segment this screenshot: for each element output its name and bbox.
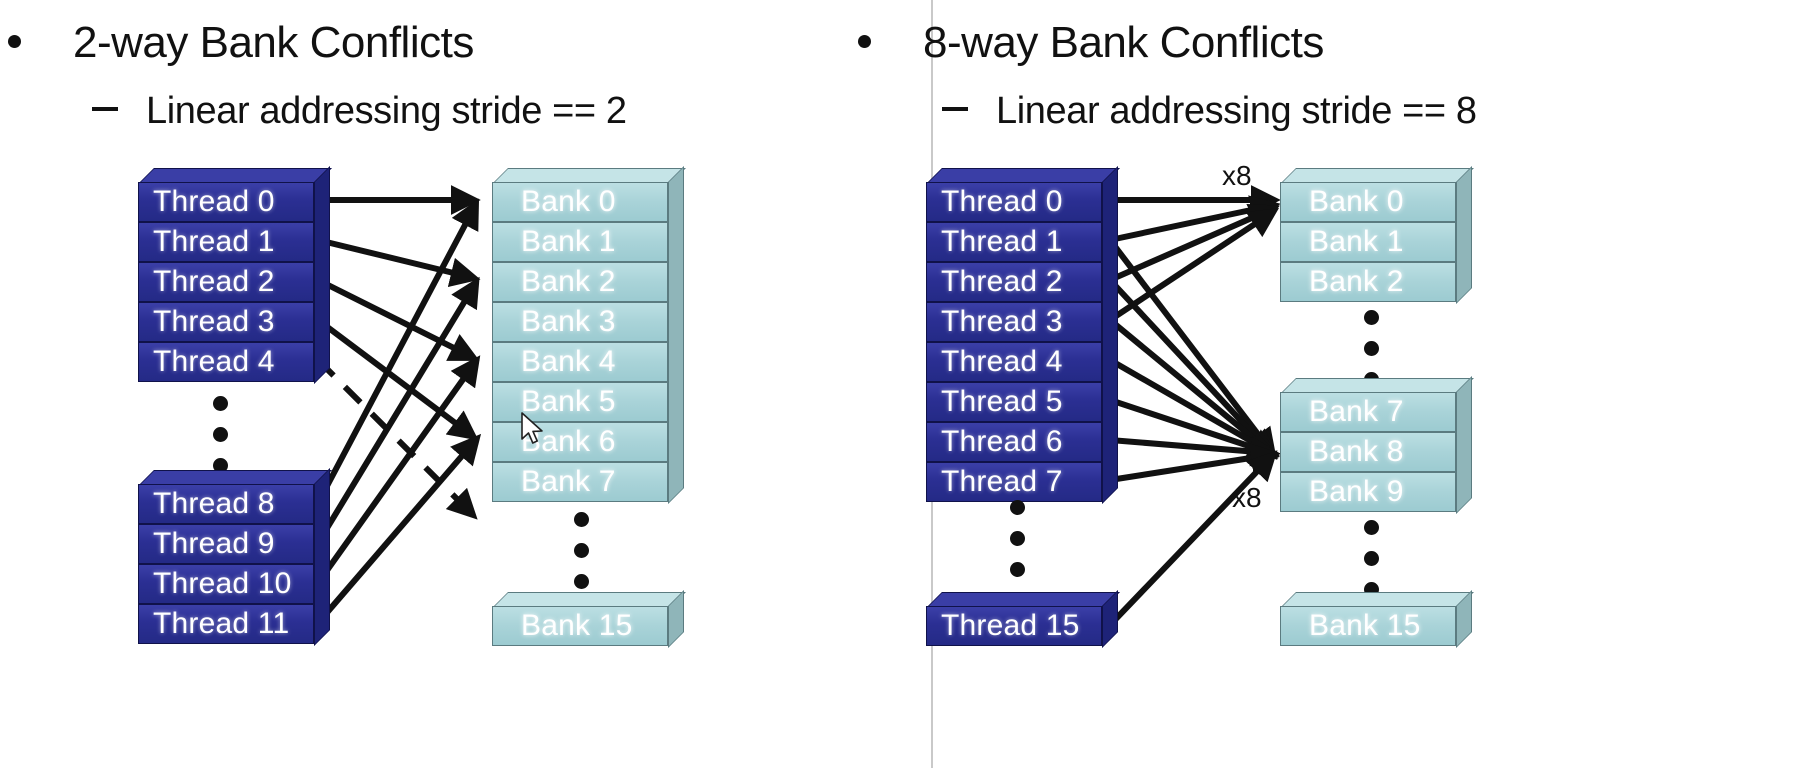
thread-label: Thread 1 <box>153 225 275 259</box>
bullet-dot-icon <box>858 35 871 48</box>
dot-icon <box>574 512 589 527</box>
x8-label-bottom: x8 <box>1232 482 1262 514</box>
bank-cell: Bank 15 <box>1280 606 1456 646</box>
slide-canvas: 2-way Bank Conflicts Linear addressing s… <box>0 0 1804 768</box>
bank-label: Bank 0 <box>1309 185 1404 219</box>
bank-cell: Bank 5 <box>492 382 668 422</box>
right-thread-stack: Thread 0Thread 1Thread 2Thread 3Thread 4… <box>926 168 1116 502</box>
bank-cell: Bank 8 <box>1280 432 1456 472</box>
bank-cell: Bank 2 <box>1280 262 1456 302</box>
right-panel-title: 8-way Bank Conflicts <box>923 18 1324 68</box>
left-panel-title: 2-way Bank Conflicts <box>73 18 474 68</box>
dot-icon <box>1364 551 1379 566</box>
thread-cell: Thread 11 <box>138 604 314 644</box>
mouse-cursor-icon <box>520 412 546 446</box>
arrow-t6-b8 <box>1110 440 1270 453</box>
bank-cell: Bank 3 <box>492 302 668 342</box>
thread-label: Thread 8 <box>153 487 275 521</box>
bank-cell: Bank 15 <box>492 606 668 646</box>
right-bank-stack-mid: Bank 7Bank 8Bank 9 <box>1280 378 1470 512</box>
bank-cell: Bank 0 <box>1280 182 1456 222</box>
right-bullet-row: 8-way Bank Conflicts <box>858 18 1324 68</box>
thread-label: Thread 7 <box>941 465 1063 499</box>
box-side-face <box>314 166 330 384</box>
arrow-t1-b8 <box>1110 240 1270 450</box>
left-bank-last: Bank 15 <box>492 592 682 646</box>
dot-icon <box>1010 531 1025 546</box>
bank-label: Bank 7 <box>521 465 616 499</box>
box-side-face <box>314 468 330 646</box>
thread-label: Thread 11 <box>153 607 289 641</box>
thread-cell: Thread 0 <box>138 182 314 222</box>
bank-label: Bank 1 <box>1309 225 1404 259</box>
thread-cell: Thread 1 <box>926 222 1102 262</box>
thread-label: Thread 0 <box>941 185 1063 219</box>
thread-cell: Thread 9 <box>138 524 314 564</box>
dot-icon <box>574 574 589 589</box>
thread-label: Thread 5 <box>941 385 1063 419</box>
box-side-face <box>1456 166 1472 304</box>
thread-cell: Thread 4 <box>138 342 314 382</box>
bank-label: Bank 15 <box>1309 609 1420 643</box>
bank-label: Bank 1 <box>521 225 616 259</box>
left-panel: 2-way Bank Conflicts Linear addressing s… <box>0 0 932 768</box>
bank-cell: Bank 2 <box>492 262 668 302</box>
l-bank-last-body: Bank 15 <box>492 592 682 646</box>
bank-cell: Bank 7 <box>1280 392 1456 432</box>
thread-cell: Thread 7 <box>926 462 1102 502</box>
arrow-t11-b6 <box>318 442 474 623</box>
left-thread-stack-bottom: Thread 8Thread 9Thread 10Thread 11 <box>138 470 328 644</box>
left-bullet-row: 2-way Bank Conflicts <box>8 18 474 68</box>
left-thread-ellipsis <box>213 396 228 473</box>
box-side-face <box>1102 166 1118 504</box>
thread-label: Thread 4 <box>941 345 1063 379</box>
bank-cell: Bank 1 <box>492 222 668 262</box>
bank-cell: Bank 6 <box>492 422 668 462</box>
thread-cell: Thread 8 <box>138 484 314 524</box>
l-banks-body: Bank 0Bank 1Bank 2Bank 3Bank 4Bank 5Bank… <box>492 168 682 502</box>
dot-icon <box>1364 520 1379 535</box>
r-threads-body: Thread 0Thread 1Thread 2Thread 3Thread 4… <box>926 168 1116 502</box>
thread-label: Thread 2 <box>941 265 1063 299</box>
box-side-face <box>668 166 684 504</box>
bank-label: Bank 0 <box>521 185 616 219</box>
bank-label: Bank 2 <box>521 265 616 299</box>
right-thread-ellipsis <box>1010 500 1025 577</box>
dot-icon <box>1010 500 1025 515</box>
arrow-t4-b8 <box>1110 360 1270 452</box>
arrow-t9-b2 <box>318 286 474 543</box>
dot-icon <box>1364 310 1379 325</box>
bank-cell: Bank 9 <box>1280 472 1456 512</box>
bullet-dot-icon <box>8 35 21 48</box>
bank-cell: Bank 1 <box>1280 222 1456 262</box>
arrow-t3-b0 <box>1110 214 1270 320</box>
right-bank-stack-top: Bank 0Bank 1Bank 2 <box>1280 168 1470 302</box>
left-bank-ellipsis <box>574 512 589 589</box>
arrow-t8-b0 <box>318 208 474 503</box>
bank-label: Bank 3 <box>521 305 616 339</box>
left-bank-stack: Bank 0Bank 1Bank 2Bank 3Bank 4Bank 5Bank… <box>492 168 682 502</box>
r-banks-top-body: Bank 0Bank 1Bank 2 <box>1280 168 1470 302</box>
right-panel-subtitle: Linear addressing stride == 8 <box>996 90 1477 133</box>
dot-icon <box>1010 562 1025 577</box>
bank-label: Bank 9 <box>1309 475 1404 509</box>
dot-icon <box>213 396 228 411</box>
bank-label: Bank 4 <box>521 345 616 379</box>
bank-label: Bank 15 <box>521 609 632 643</box>
left-panel-subtitle: Linear addressing stride == 2 <box>146 90 627 133</box>
arrow-t10-b4 <box>318 364 474 583</box>
arrow-t3-b8 <box>1110 320 1270 452</box>
l-threads-bottom-body: Thread 8Thread 9Thread 10Thread 11 <box>138 470 328 644</box>
l-threads-top-body: Thread 0Thread 1Thread 2Thread 3Thread 4 <box>138 168 328 382</box>
thread-cell: Thread 1 <box>138 222 314 262</box>
left-sub-row: Linear addressing stride == 2 <box>92 90 627 133</box>
thread-label: Thread 3 <box>941 305 1063 339</box>
thread-label: Thread 15 <box>941 609 1080 643</box>
r-bank-last-body: Bank 15 <box>1280 592 1470 646</box>
right-bank-last: Bank 15 <box>1280 592 1470 646</box>
right-thread-last: Thread 15 <box>926 592 1116 646</box>
arrow-t2-b8 <box>1110 280 1270 452</box>
bank-cell: Bank 0 <box>492 182 668 222</box>
arrow-t2-b4 <box>318 280 470 356</box>
thread-label: Thread 9 <box>153 527 275 561</box>
bank-cell: Bank 7 <box>492 462 668 502</box>
thread-cell: Thread 15 <box>926 606 1102 646</box>
arrow-t3-b6 <box>318 320 470 434</box>
thread-label: Thread 6 <box>941 425 1063 459</box>
thread-cell: Thread 3 <box>138 302 314 342</box>
thread-cell: Thread 6 <box>926 422 1102 462</box>
dot-icon <box>213 427 228 442</box>
thread-cell: Thread 0 <box>926 182 1102 222</box>
r-banks-mid-body: Bank 7Bank 8Bank 9 <box>1280 378 1470 512</box>
box-side-face <box>1456 376 1472 514</box>
right-sub-row: Linear addressing stride == 8 <box>942 90 1477 133</box>
arrow-t2-b0 <box>1110 210 1270 280</box>
thread-cell: Thread 2 <box>926 262 1102 302</box>
dot-icon <box>1364 341 1379 356</box>
thread-cell: Thread 2 <box>138 262 314 302</box>
bank-cell: Bank 4 <box>492 342 668 382</box>
thread-label: Thread 2 <box>153 265 275 299</box>
thread-label: Thread 1 <box>941 225 1063 259</box>
bank-label: Bank 7 <box>1309 395 1404 429</box>
thread-cell: Thread 5 <box>926 382 1102 422</box>
right-panel: 8-way Bank Conflicts Linear addressing s… <box>932 0 1804 768</box>
thread-label: Thread 10 <box>153 567 292 601</box>
left-thread-stack-top: Thread 0Thread 1Thread 2Thread 3Thread 4 <box>138 168 328 382</box>
arrow-t7-b8 <box>1110 455 1270 480</box>
thread-cell: Thread 4 <box>926 342 1102 382</box>
arrow-t4-dashed <box>318 360 470 512</box>
thread-label: Thread 4 <box>153 345 275 379</box>
arrow-t1-b2 <box>318 240 470 277</box>
thread-label: Thread 0 <box>153 185 275 219</box>
bank-label: Bank 8 <box>1309 435 1404 469</box>
r-thread-last-body: Thread 15 <box>926 592 1116 646</box>
arrow-t1-b0 <box>1110 206 1270 240</box>
thread-cell: Thread 3 <box>926 302 1102 342</box>
right-bank-ellipsis-top <box>1364 310 1379 387</box>
x8-label-top: x8 <box>1222 160 1252 192</box>
thread-cell: Thread 10 <box>138 564 314 604</box>
dot-icon <box>574 543 589 558</box>
bank-label: Bank 2 <box>1309 265 1404 299</box>
dash-marker-icon <box>92 107 118 111</box>
thread-label: Thread 3 <box>153 305 275 339</box>
arrow-t5-b8 <box>1110 400 1270 453</box>
dash-marker-icon <box>942 107 968 111</box>
right-bank-ellipsis-bottom <box>1364 520 1379 597</box>
